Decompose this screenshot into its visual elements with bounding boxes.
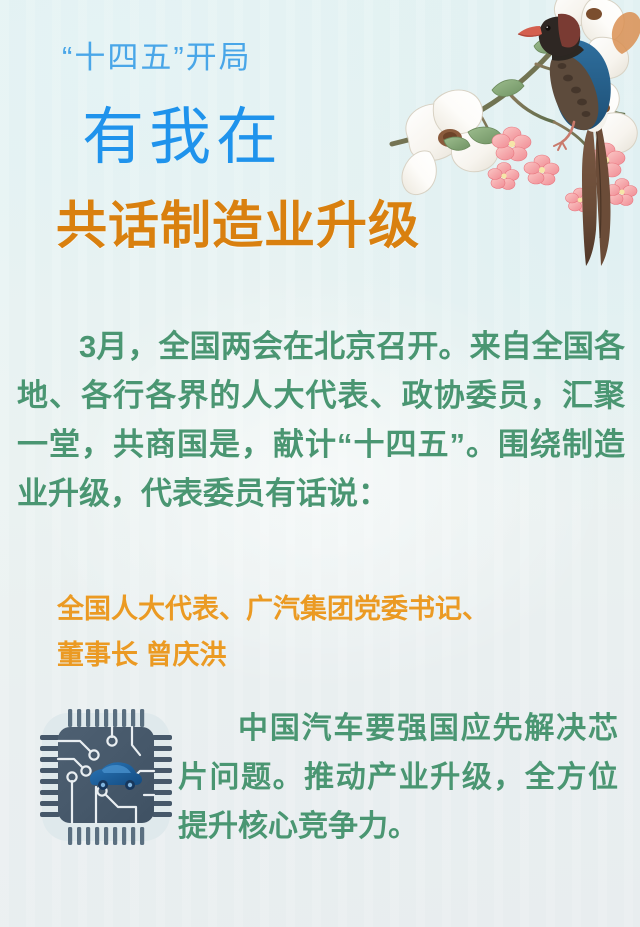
poster-subheadline: 共话制造业升级 [56,200,420,251]
chip-car-icon [36,703,176,851]
intro-paragraph: 3月，全国两会在北京召开。来自全国各地、各行各界的人大代表、政协委员，汇聚一堂，… [17,322,625,518]
poster-headline: 有我在 [82,107,283,169]
speaker-name-line-2: 董事长 曾庆洪 [57,632,617,678]
bird-magnolia-illustration [384,0,640,272]
speaker-title-block: 全国人大代表、广汽集团党委书记、 董事长 曾庆洪 [57,586,617,678]
quote-text: 中国汽车要强国应先解决芯片问题。推动产业升级，全方位提升核心竞争力。 [178,704,618,851]
poster-canvas: “十四五”开局 有我在 共话制造业升级 3月，全国两会在北京召开。来自全国各地、… [0,0,640,927]
poster-kicker: “十四五”开局 [62,42,252,73]
quote-block: 中国汽车要强国应先解决芯片问题。推动产业升级，全方位提升核心竞争力。 [0,700,640,870]
speaker-title-line-1: 全国人大代表、广汽集团党委书记、 [57,594,489,624]
